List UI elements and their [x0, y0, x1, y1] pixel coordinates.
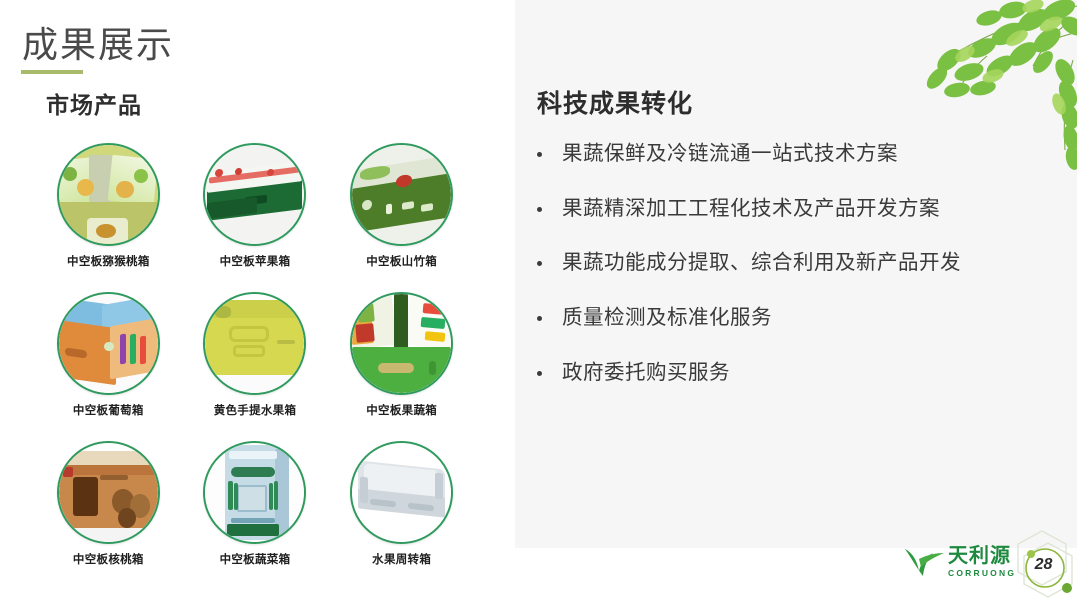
grape-box-photo	[57, 292, 160, 395]
logo-swoosh-icon	[903, 545, 945, 579]
page-number-badge: 28	[1008, 527, 1077, 602]
apple-box-photo	[203, 143, 306, 246]
right-panel-heading: 科技成果转化	[537, 84, 693, 120]
asparagus-box-photo	[203, 441, 306, 544]
product-item[interactable]: 中空板葡萄箱	[40, 292, 177, 418]
slide-canvas: 成果展示 市场产品	[0, 0, 1077, 602]
title-underline-rule	[21, 70, 83, 74]
product-item[interactable]: 黄色手提水果箱	[187, 292, 324, 418]
page-title: 成果展示	[22, 24, 174, 65]
list-item-label: 果蔬功能成分提取、综合利用及新产品开发	[562, 249, 961, 277]
page-number: 28	[1008, 527, 1077, 602]
product-item[interactable]: 中空板果蔬箱	[333, 292, 470, 418]
walnut-box-photo	[57, 441, 160, 544]
logo-name-en: CORRUONG	[948, 569, 1016, 578]
kiwi-box-photo	[57, 143, 160, 246]
bullet-dot-icon	[537, 316, 542, 321]
bullet-dot-icon	[537, 371, 542, 376]
product-item[interactable]: 水果周转箱	[333, 441, 470, 567]
product-caption: 中空板果蔬箱	[366, 402, 437, 418]
logo-wordmark: 天利源 CORRUONG	[948, 546, 1016, 578]
product-caption: 中空板葡萄箱	[73, 402, 144, 418]
fruit-tray-photo	[350, 441, 453, 544]
product-caption: 黄色手提水果箱	[214, 402, 297, 418]
list-item: 政府委托购买服务	[537, 359, 1057, 387]
product-caption: 中空板苹果箱	[220, 253, 291, 269]
product-item[interactable]: 中空板山竹箱	[333, 143, 470, 269]
product-item[interactable]: 中空板蔬菜箱	[187, 441, 324, 567]
product-item[interactable]: 中空板猕猴桃箱	[40, 143, 177, 269]
vegetable-box-photo	[350, 292, 453, 395]
product-caption: 中空板核桃箱	[73, 551, 144, 567]
bullet-dot-icon	[537, 261, 542, 266]
product-caption: 中空板猕猴桃箱	[67, 253, 150, 269]
list-item: 果蔬保鲜及冷链流通一站式技术方案	[537, 140, 1057, 168]
list-item: 质量检测及标准化服务	[537, 304, 1057, 332]
achievement-list: 果蔬保鲜及冷链流通一站式技术方案 果蔬精深加工工程化技术及产品开发方案 果蔬功能…	[537, 140, 1057, 386]
product-grid: 中空板猕猴桃箱 中空板苹果箱	[40, 143, 470, 567]
product-item[interactable]: 中空板核桃箱	[40, 441, 177, 567]
product-caption: 中空板蔬菜箱	[220, 551, 291, 567]
product-caption: 水果周转箱	[372, 551, 431, 567]
logo-name-cn: 天利源	[948, 546, 1016, 566]
list-item-label: 政府委托购买服务	[562, 359, 730, 387]
mangosteen-box-photo	[350, 143, 453, 246]
list-item-label: 果蔬保鲜及冷链流通一站式技术方案	[562, 140, 898, 168]
company-logo: 天利源 CORRUONG	[903, 545, 1016, 579]
list-item-label: 果蔬精深加工工程化技术及产品开发方案	[562, 195, 940, 223]
yellow-handle-box-photo	[203, 292, 306, 395]
page-subtitle: 市场产品	[46, 86, 142, 120]
list-item: 果蔬精深加工工程化技术及产品开发方案	[537, 195, 1057, 223]
list-item: 果蔬功能成分提取、综合利用及新产品开发	[537, 249, 1057, 277]
product-caption: 中空板山竹箱	[366, 253, 437, 269]
bullet-dot-icon	[537, 207, 542, 212]
product-item[interactable]: 中空板苹果箱	[187, 143, 324, 269]
bullet-dot-icon	[537, 152, 542, 157]
list-item-label: 质量检测及标准化服务	[562, 304, 772, 332]
